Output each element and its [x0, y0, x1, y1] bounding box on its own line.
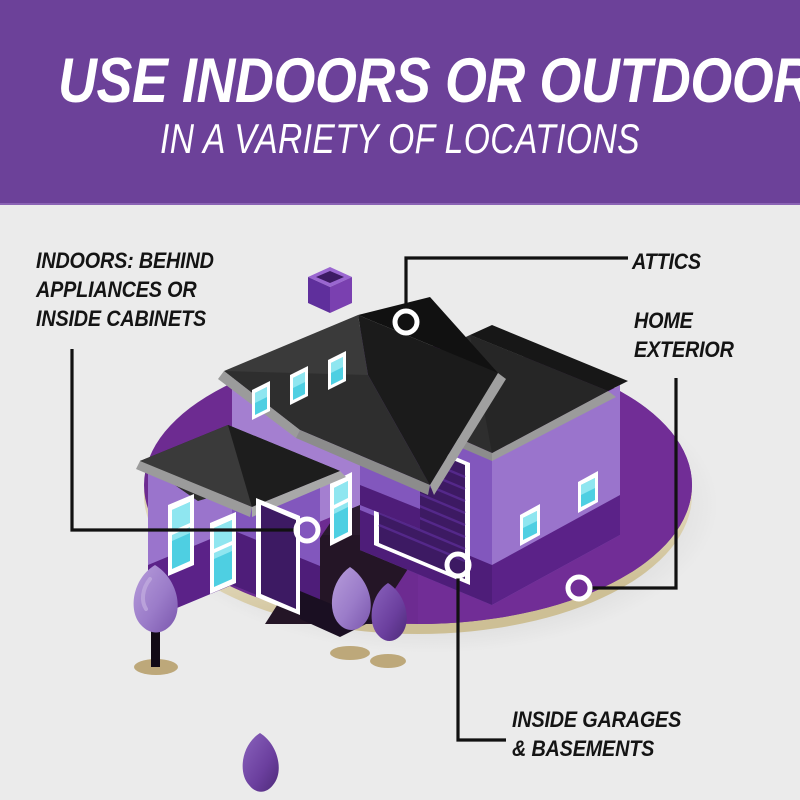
- isometric-house-svg: [0, 205, 800, 800]
- front-door[interactable]: [261, 505, 296, 609]
- main-window-lower-tall: [330, 472, 352, 546]
- infographic-page: USE INDOORS OR OUTDOORS IN A VARIETY OF …: [0, 0, 800, 800]
- porch-window-1: [168, 494, 194, 576]
- page-subtitle: IN A VARIETY OF LOCATIONS: [80, 118, 720, 160]
- header-banner: USE INDOORS OR OUTDOORS IN A VARIETY OF …: [0, 0, 800, 205]
- house-illustration: [0, 205, 800, 800]
- chimney: [308, 267, 352, 313]
- tree-mid-small: [241, 733, 279, 800]
- page-title: USE INDOORS OR OUTDOORS: [58, 50, 742, 113]
- porch-window-2: [210, 512, 236, 594]
